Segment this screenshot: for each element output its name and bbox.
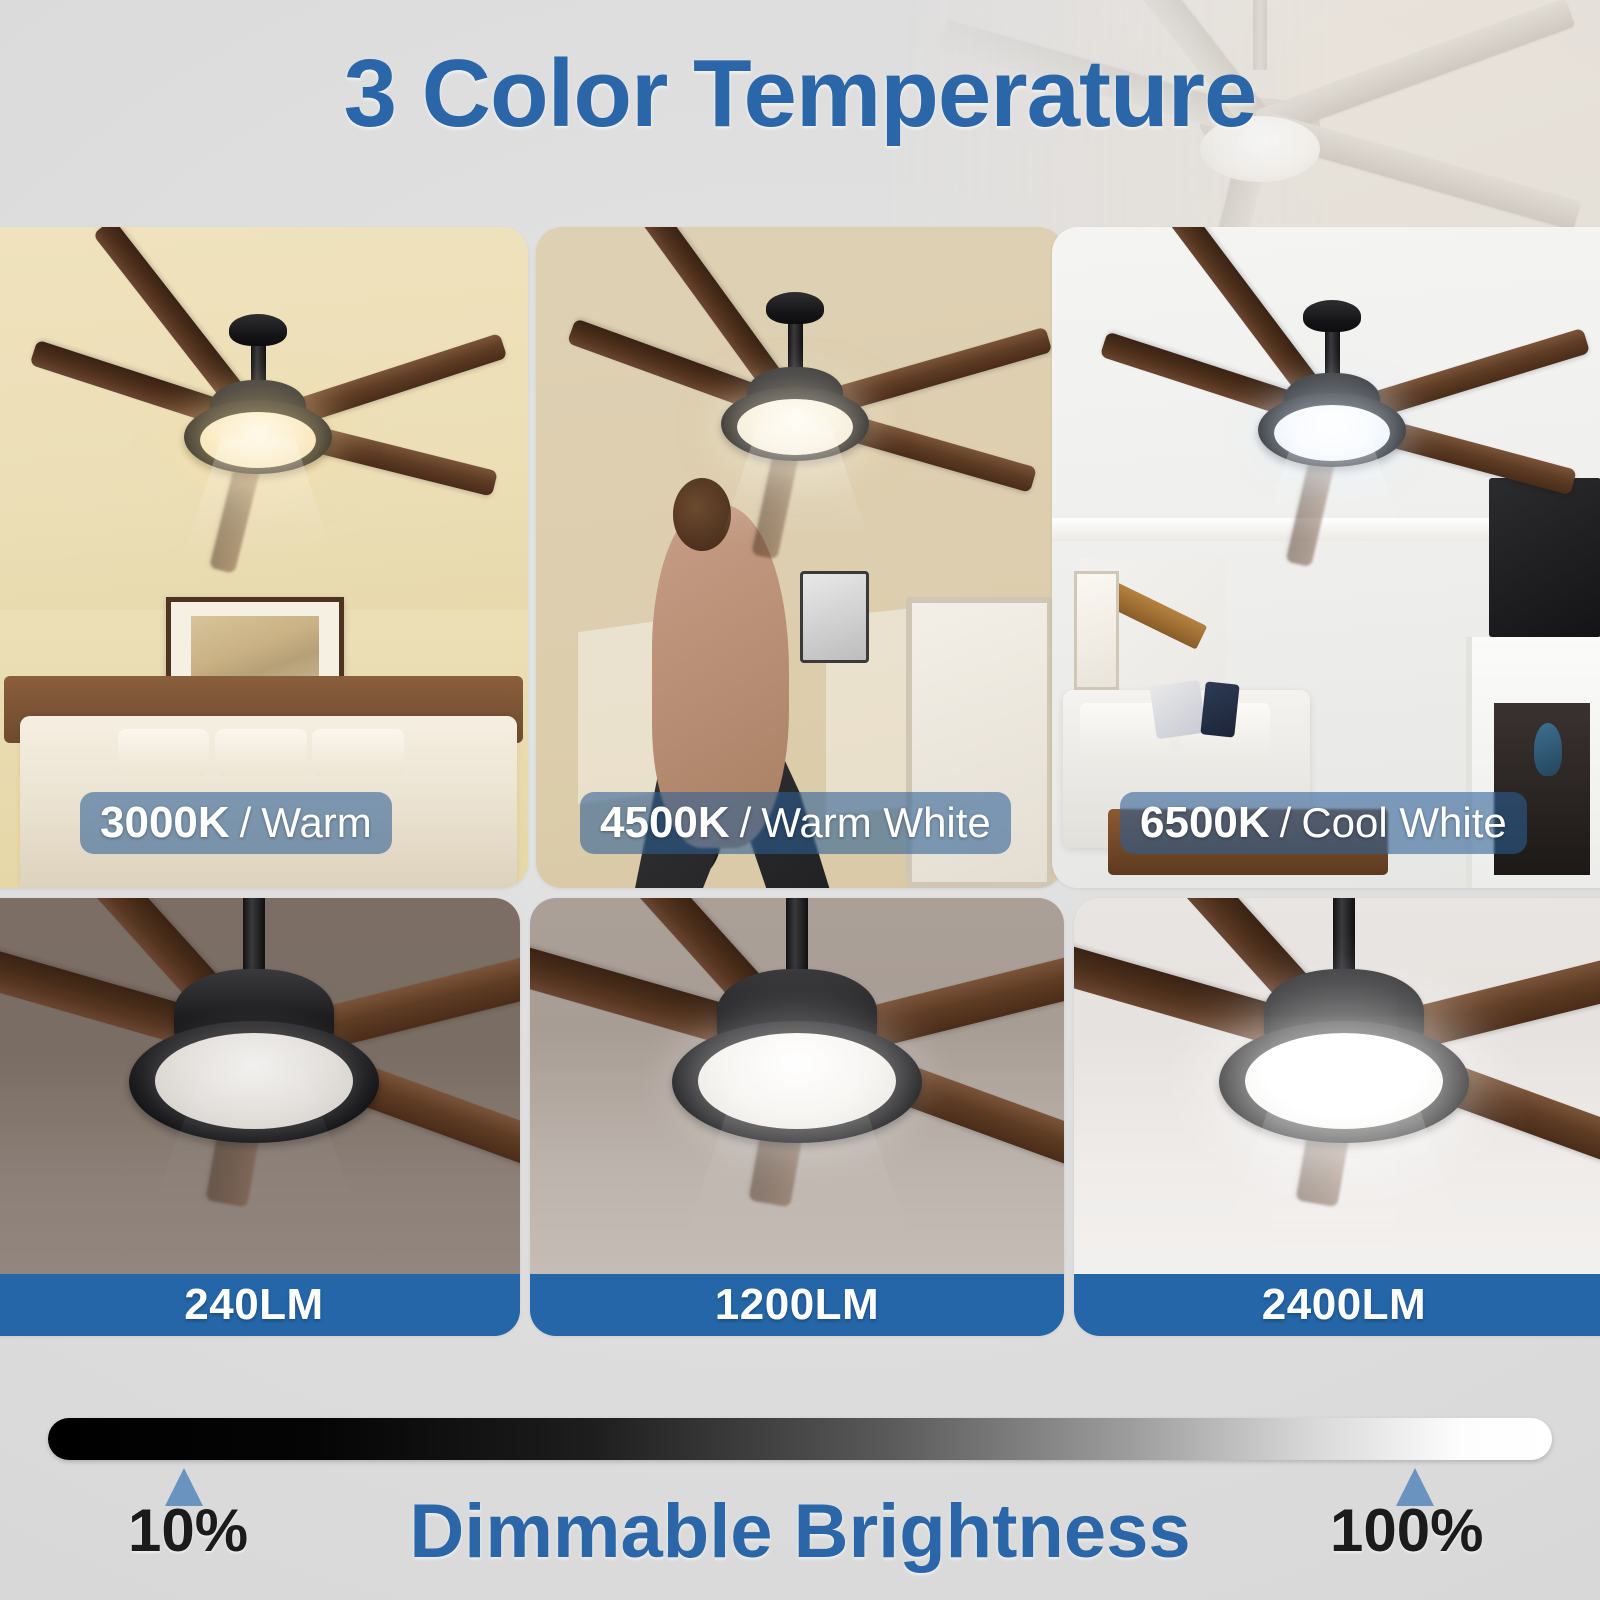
color-temperature-tile-warm[interactable]: 3000K / Warm — [0, 227, 528, 888]
decor-vase — [1534, 723, 1562, 776]
throw-pillow — [1149, 680, 1206, 739]
infographic-page: 3 Color Temperature — [0, 0, 1600, 1600]
ceiling-fan-cool-white — [1108, 286, 1556, 524]
color-temp-label-warm-white: 4500K / Warm White — [580, 792, 1011, 854]
ceiling-fan-closeup-medium — [530, 898, 1064, 1196]
scene-fan-closeup-bright — [1074, 898, 1600, 1336]
color-temp-label-warm: 3000K / Warm — [80, 792, 392, 854]
kelvin-value: 4500K — [600, 798, 730, 848]
lumen-label-240: 240LM — [0, 1274, 520, 1336]
ceiling-fan-closeup-dim — [0, 898, 520, 1196]
lumen-label-1200: 1200LM — [530, 1274, 1064, 1336]
ceiling-fan-warm — [53, 300, 463, 525]
color-temperature-tile-warm-white[interactable]: 4500K / Warm White — [536, 227, 1064, 888]
color-temp-name: Warm White — [761, 799, 990, 847]
throw-pillow-navy — [1201, 681, 1240, 737]
ceiling-fan-warm-white — [578, 280, 1011, 518]
color-temperature-tile-cool-white[interactable]: 6500K / Cool White — [1052, 227, 1600, 888]
color-temp-label-cool-white: 6500K / Cool White — [1120, 792, 1527, 854]
brightness-caption: Dimmable Brightness — [0, 1494, 1600, 1570]
lumen-label-2400: 2400LM — [1074, 1274, 1600, 1336]
label-separator: / — [1280, 799, 1292, 847]
pillow — [312, 729, 404, 775]
scene-bedroom — [0, 227, 528, 888]
scene-fan-closeup-dim — [0, 898, 520, 1336]
color-temp-name: Warm — [261, 799, 371, 847]
brightness-tile-2400lm[interactable]: 2400LM — [1074, 898, 1600, 1336]
bike-console-screen — [800, 571, 869, 664]
color-temp-name: Cool White — [1301, 799, 1506, 847]
brightness-tile-240lm[interactable]: 240LM — [0, 898, 520, 1336]
kelvin-value: 3000K — [100, 798, 230, 848]
scene-living-room — [1052, 227, 1600, 888]
fan-canopy-icon — [766, 292, 824, 324]
scene-exercise-room — [536, 227, 1064, 888]
tile-grid: 3000K / Warm — [0, 0, 1600, 1600]
ceiling-fan-closeup-bright — [1074, 898, 1600, 1196]
scene-fan-closeup-medium — [530, 898, 1064, 1336]
fan-canopy-icon — [229, 314, 287, 346]
fan-canopy-icon — [1303, 300, 1361, 332]
pillow — [118, 729, 210, 775]
label-separator: / — [240, 799, 252, 847]
kelvin-value: 6500K — [1140, 798, 1270, 848]
label-separator: / — [740, 799, 752, 847]
brightness-slider-track[interactable] — [48, 1418, 1552, 1460]
pillow — [215, 729, 307, 775]
page-title: 3 Color Temperature — [0, 46, 1600, 142]
wall-art-frame — [1074, 571, 1119, 690]
brightness-tile-1200lm[interactable]: 1200LM — [530, 898, 1064, 1336]
